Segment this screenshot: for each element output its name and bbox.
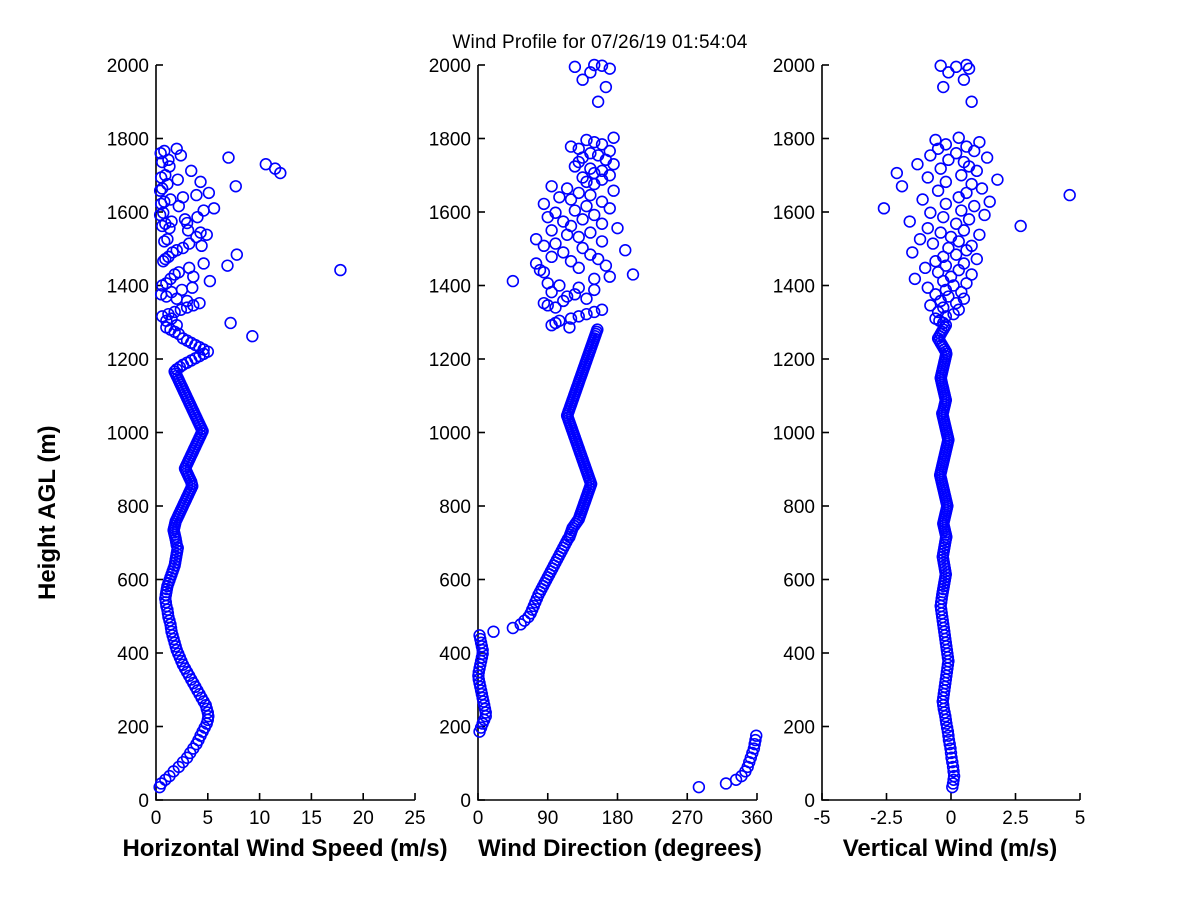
data-point (966, 96, 977, 107)
data-point (984, 196, 995, 207)
y-tick-label: 1800 (773, 130, 815, 151)
data-point (1015, 221, 1026, 232)
y-tick-label: 200 (783, 718, 815, 739)
data-point (961, 60, 972, 71)
x-axis-label-wind-direction: Wind Direction (degrees) (455, 835, 785, 863)
y-tick-label: 800 (783, 497, 815, 518)
data-point (966, 269, 977, 280)
data-point (992, 174, 1003, 185)
data-point (928, 238, 939, 249)
data-point (897, 181, 908, 192)
y-tick-label: 2000 (773, 56, 815, 77)
data-point (969, 201, 980, 212)
data-point (953, 132, 964, 143)
data-point (907, 247, 918, 258)
data-point (917, 194, 928, 205)
data-point (922, 172, 933, 183)
data-point (938, 212, 949, 223)
data-point (966, 179, 977, 190)
y-tick-label: 1600 (773, 203, 815, 224)
data-point (964, 63, 975, 74)
x-tick-label: -2.5 (870, 808, 903, 829)
data-point (922, 223, 933, 234)
data-point (959, 74, 970, 85)
data-point (943, 243, 954, 254)
data-point (974, 229, 985, 240)
data-point (904, 216, 915, 227)
y-tick-label: 600 (783, 571, 815, 592)
panel-vertical-wind: 0200400600800100012001400160018002000-5-… (0, 0, 1200, 900)
data-point (964, 214, 975, 225)
x-tick-label: 5 (1075, 808, 1086, 829)
x-axis-label-vertical-wind: Vertical Wind (m/s) (800, 835, 1100, 863)
data-point (982, 152, 993, 163)
data-point (915, 234, 926, 245)
data-point (935, 60, 946, 71)
data-point (935, 227, 946, 238)
wind-profile-figure: Wind Profile for 07/26/19 01:54:04 Heigh… (0, 0, 1200, 900)
data-point (879, 203, 890, 214)
data-point (951, 148, 962, 159)
data-point (956, 170, 967, 181)
data-point (891, 168, 902, 179)
data-point (940, 176, 951, 187)
data-point (951, 61, 962, 72)
data-point (933, 185, 944, 196)
x-tick-label: -5 (814, 808, 831, 829)
data-point (956, 205, 967, 216)
data-point (971, 254, 982, 265)
data-point (925, 207, 936, 218)
plot-area-2: 0200400600800100012001400160018002000-5-… (0, 0, 1200, 900)
data-point (920, 262, 931, 273)
data-point (1064, 190, 1075, 201)
data-point (940, 199, 951, 210)
data-point (935, 163, 946, 174)
x-tick-label: 0 (946, 808, 957, 829)
data-point (922, 282, 933, 293)
data-point (974, 137, 985, 148)
data-point (912, 159, 923, 170)
x-tick-label: 2.5 (1002, 808, 1028, 829)
data-point (925, 300, 936, 311)
data-point (951, 218, 962, 229)
y-tick-label: 1400 (773, 277, 815, 298)
y-tick-label: 400 (783, 644, 815, 665)
data-point (938, 82, 949, 93)
data-point (909, 273, 920, 284)
data-point (979, 210, 990, 221)
y-tick-label: 1000 (773, 424, 815, 445)
x-axis-label-horizontal-wind-speed: Horizontal Wind Speed (m/s) (90, 835, 480, 863)
y-tick-label: 1200 (773, 350, 815, 371)
data-point (977, 183, 988, 194)
data-series-markers (879, 60, 1076, 793)
